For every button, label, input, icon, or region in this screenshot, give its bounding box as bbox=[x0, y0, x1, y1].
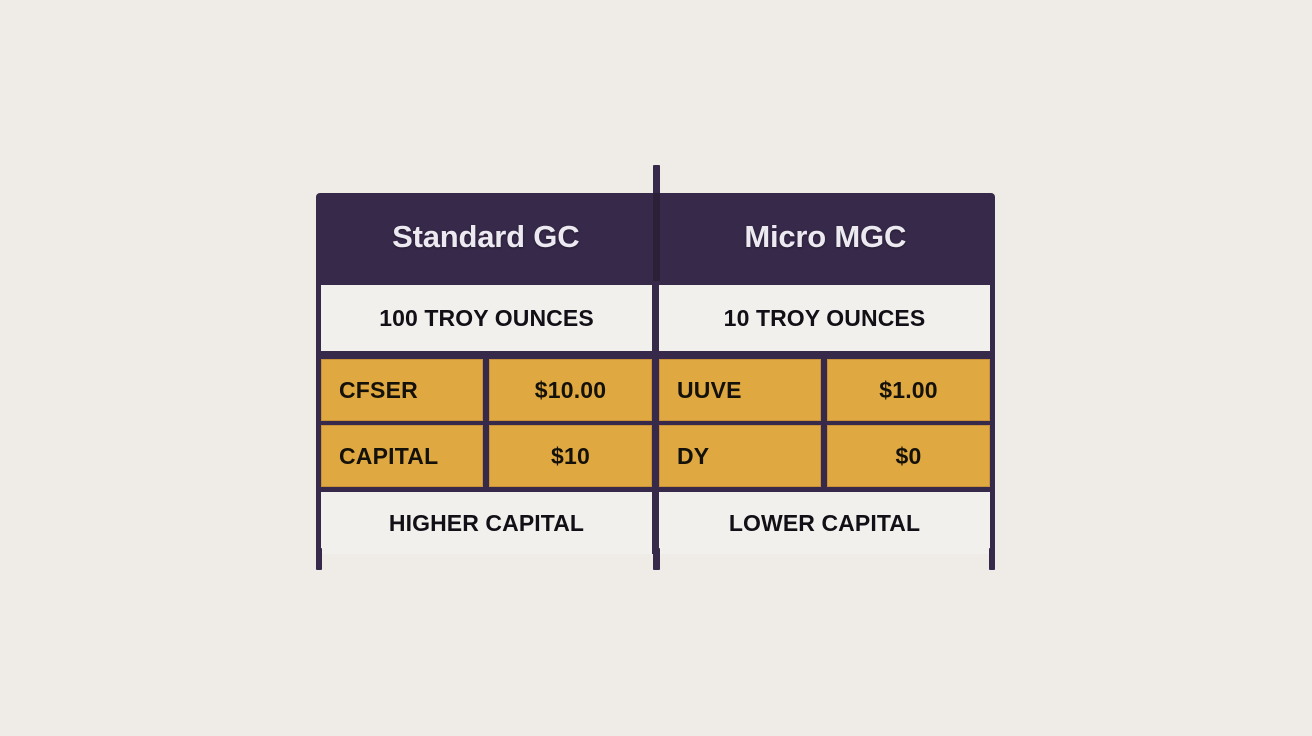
row2-micro-label-cell: DY bbox=[659, 425, 821, 487]
row1-micro-label-cell: UUVE bbox=[659, 359, 821, 421]
comparison-table: Standard GC Micro MGC 100 TROY OUNCES 10… bbox=[316, 193, 995, 551]
row2-micro-label: DY bbox=[677, 443, 709, 470]
header-cell-micro: Micro MGC bbox=[656, 193, 996, 281]
row2-micro-value: $0 bbox=[896, 443, 922, 470]
table-row: CFSER $10.00 UUVE $1.00 bbox=[316, 355, 995, 421]
header-cell-standard: Standard GC bbox=[316, 193, 656, 281]
header-label-standard: Standard GC bbox=[392, 219, 579, 255]
connector-stub-bottom-left bbox=[316, 548, 322, 570]
row2-standard-label-cell: CAPITAL bbox=[321, 425, 483, 487]
contract-size-row: 100 TROY OUNCES 10 TROY OUNCES bbox=[316, 281, 995, 355]
header-column-divider bbox=[653, 193, 660, 281]
row1-micro-value-cell: $1.00 bbox=[827, 359, 990, 421]
contract-size-micro-label: 10 TROY OUNCES bbox=[724, 305, 926, 332]
row2-micro-half: DY $0 bbox=[659, 425, 990, 487]
contract-size-micro: 10 TROY OUNCES bbox=[659, 285, 990, 351]
contract-size-standard-label: 100 TROY OUNCES bbox=[379, 305, 594, 332]
row1-standard-label: CFSER bbox=[339, 377, 418, 404]
table-row: CAPITAL $10 DY $0 bbox=[316, 421, 995, 492]
footer-label-standard: HIGHER CAPITAL bbox=[389, 510, 584, 537]
footer-label-micro: LOWER CAPITAL bbox=[729, 510, 920, 537]
header-label-micro: Micro MGC bbox=[744, 219, 906, 255]
comparison-diagram: Standard GC Micro MGC 100 TROY OUNCES 10… bbox=[0, 0, 1312, 736]
row1-micro-label: UUVE bbox=[677, 377, 742, 404]
row2-standard-value: $10 bbox=[551, 443, 590, 470]
row1-micro-value: $1.00 bbox=[879, 377, 938, 404]
row1-standard-value: $10.00 bbox=[535, 377, 607, 404]
row1-micro-half: UUVE $1.00 bbox=[659, 359, 990, 421]
footer-cell-standard: HIGHER CAPITAL bbox=[321, 492, 652, 554]
table-header-row: Standard GC Micro MGC bbox=[316, 193, 995, 281]
row1-standard-value-cell: $10.00 bbox=[489, 359, 652, 421]
row1-standard-half: CFSER $10.00 bbox=[321, 359, 652, 421]
footer-cell-micro: LOWER CAPITAL bbox=[659, 492, 990, 554]
contract-size-standard: 100 TROY OUNCES bbox=[321, 285, 652, 351]
row1-standard-label-cell: CFSER bbox=[321, 359, 483, 421]
row2-standard-half: CAPITAL $10 bbox=[321, 425, 652, 487]
row2-standard-value-cell: $10 bbox=[489, 425, 652, 487]
row2-micro-value-cell: $0 bbox=[827, 425, 990, 487]
connector-stub-top bbox=[653, 165, 660, 195]
connector-stub-bottom-right bbox=[989, 548, 995, 570]
connector-stub-bottom-center bbox=[653, 548, 660, 570]
table-footer-row: HIGHER CAPITAL LOWER CAPITAL bbox=[316, 492, 995, 554]
row2-standard-label: CAPITAL bbox=[339, 443, 438, 470]
